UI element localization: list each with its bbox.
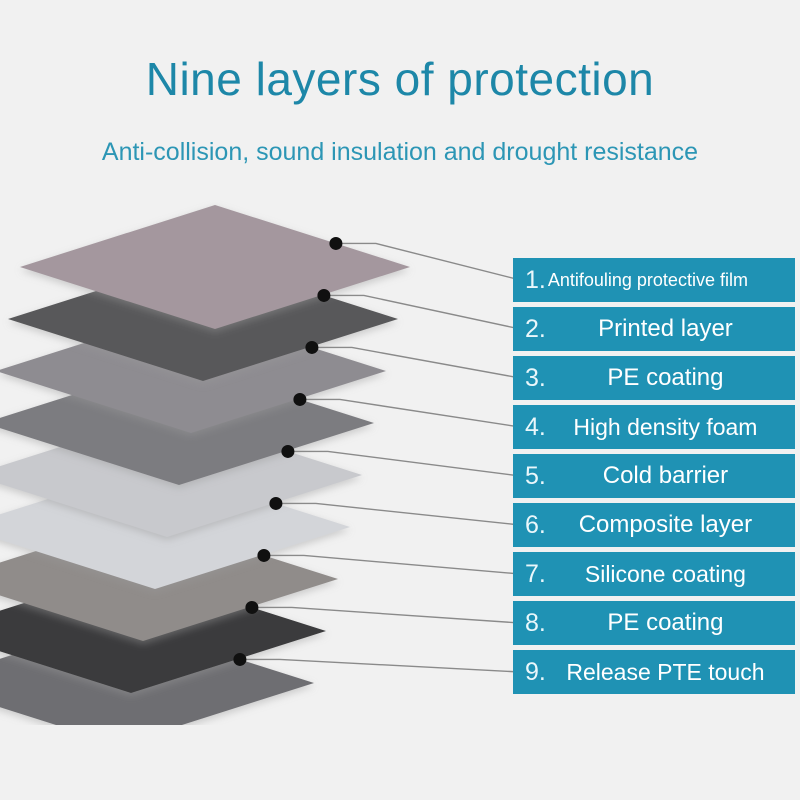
- connector-dot-2[interactable]: [317, 289, 330, 302]
- layer-label-text: PE coating: [546, 609, 789, 637]
- layer-stack-diagram: [0, 195, 520, 725]
- layer-label-number: 9.: [525, 660, 546, 685]
- layer-label-row-3[interactable]: 3.PE coating: [513, 356, 795, 400]
- layer-sheets-group: [0, 205, 410, 725]
- layer-label-text: Composite layer: [546, 511, 789, 539]
- layer-label-text: High density foam: [546, 414, 789, 441]
- layer-label-text: Antifouling protective film: [546, 270, 789, 291]
- connector-dot-7[interactable]: [257, 549, 270, 562]
- layer-label-text: Silicone coating: [546, 561, 789, 588]
- layer-label-row-7[interactable]: 7.Silicone coating: [513, 552, 795, 596]
- layer-label-row-8[interactable]: 8.PE coating: [513, 601, 795, 645]
- layer-label-number: 6.: [525, 513, 546, 538]
- layer-label-number: 2.: [525, 317, 546, 342]
- layer-label-row-2[interactable]: 2.Printed layer: [513, 307, 795, 351]
- layer-label-number: 7.: [525, 562, 546, 587]
- layer-label-number: 8.: [525, 611, 546, 636]
- layer-label-text: PE coating: [546, 364, 789, 392]
- connector-dot-9[interactable]: [233, 653, 246, 666]
- layer-label-row-6[interactable]: 6.Composite layer: [513, 503, 795, 547]
- layer-label-text: Printed layer: [546, 315, 789, 343]
- layer-label-list: 1.Antifouling protective film2.Printed l…: [513, 258, 795, 699]
- connector-dot-8[interactable]: [245, 601, 258, 614]
- page-title: Nine layers of protection: [0, 52, 800, 106]
- layer-label-row-1[interactable]: 1.Antifouling protective film: [513, 258, 795, 302]
- connector-line-9: [240, 659, 520, 672]
- page-subtitle: Anti-collision, sound insulation and dro…: [0, 138, 800, 167]
- layer-label-number: 1.: [525, 268, 546, 293]
- layer-label-row-4[interactable]: 4.High density foam: [513, 405, 795, 449]
- layer-label-row-9[interactable]: 9.Release PTE touch: [513, 650, 795, 694]
- layer-label-number: 3.: [525, 366, 546, 391]
- layer-label-text: Release PTE touch: [546, 659, 789, 686]
- connector-dot-4[interactable]: [293, 393, 306, 406]
- layer-label-number: 4.: [525, 415, 546, 440]
- connector-dot-1[interactable]: [329, 237, 342, 250]
- connector-dot-6[interactable]: [269, 497, 282, 510]
- connector-dot-5[interactable]: [281, 445, 294, 458]
- connector-dot-3[interactable]: [305, 341, 318, 354]
- layer-label-number: 5.: [525, 464, 546, 489]
- infographic-canvas: Nine layers of protection Anti-collision…: [0, 0, 800, 800]
- layer-label-text: Cold barrier: [546, 462, 789, 490]
- layer-label-row-5[interactable]: 5.Cold barrier: [513, 454, 795, 498]
